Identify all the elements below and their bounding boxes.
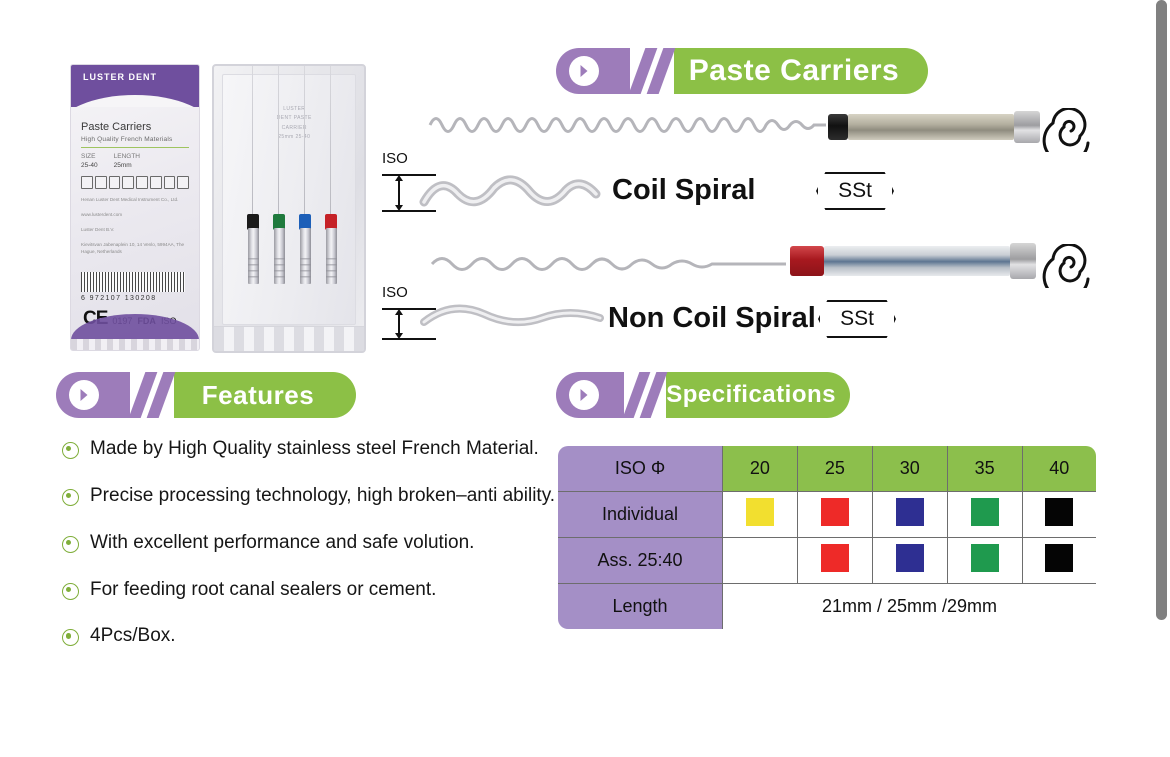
badge-sst-non-coil: SSt [818,300,896,338]
header-size-35: 35 [947,445,1022,492]
banner-right-green: Specifications [666,372,850,418]
specifications-table: ISO Φ 20 25 30 35 40 Individual Ass. 25:… [556,444,1098,631]
carton-brand-name: LUSTER DENT [83,72,157,82]
cell-assortment-30 [872,538,947,584]
carton-spec-block: SIZE 25-40 LENGTH 25mm [81,153,189,169]
carton-product-name: Paste Carriers [81,121,189,133]
bullet-icon [62,536,79,553]
carton-company: Henan Luster Dent Medical Instrument Co.… [81,197,189,204]
consult-ifu-icon [81,176,93,189]
bullet-icon [62,583,79,600]
file-handle [326,228,337,284]
cell-individual-35 [947,492,1022,538]
color-swatch [821,544,849,572]
product-blister-pack-photo: LUSTER DENT PASTE CARRIER 25mm 25-40 [212,64,366,353]
blister-tray-edge [214,326,364,351]
feature-text: For feeding root canal sealers or cement… [90,579,436,601]
blister-tray: LUSTER DENT PASTE CARRIER 25mm 25-40 [222,74,356,325]
cell-individual-25 [797,492,872,538]
non-coil-spiral-wire [430,248,790,280]
banner-title-paste-carriers: Paste Carriers [689,54,899,88]
non-coil-spiral-handpiece [790,246,1036,276]
cell-individual-20 [723,492,798,538]
temperature-limit-icon [164,176,176,189]
features-list: Made by High Quality stainless steel Fre… [62,438,562,672]
coil-spiral-wire [428,108,828,142]
cell-assortment-35 [947,538,1022,584]
list-item: For feeding root canal sealers or cement… [62,579,562,601]
carton-eu-address: Kievitsvan Jabenaplein 10, 14 Venlo, 599… [81,242,189,256]
feature-text: Precise processing technology, high brok… [90,485,555,507]
list-item: Made by High Quality stainless steel Fre… [62,438,562,460]
bullet-icon [62,629,79,646]
row-label-individual: Individual [557,492,723,538]
iso-arrow [398,314,400,334]
carton-barcode [81,272,185,292]
header-size-20: 20 [723,445,798,492]
color-swatch [971,498,999,526]
list-item: Precise processing technology, high brok… [62,485,562,507]
carton-tagline: High Quality French Materials [81,136,189,143]
manufacturer-icon [95,176,107,189]
file-shank [278,64,279,214]
row-label-assortment: Ass. 25:40 [557,538,723,584]
carton-size-label: SIZE [81,153,98,160]
iso-arrow [398,180,400,206]
carton-length-label: LENGTH [114,153,140,160]
list-item: 4Pcs/Box. [62,625,562,647]
table-row: Individual [557,492,1097,538]
banner-paste-carriers: Paste Carriers [556,48,928,94]
cell-assortment-20 [723,538,798,584]
header-iso-phi: ISO Φ [557,445,723,492]
blister-printed-text: LUSTER DENT PASTE CARRIER 25mm 25-40 [275,105,313,143]
chevron-right-icon [569,56,599,86]
banner-title-features: Features [202,380,314,411]
banner-specifications: Specifications [556,372,850,418]
caution-icon [122,176,134,189]
keep-dry-icon [136,176,148,189]
banner-right-green: Paste Carriers [674,48,928,94]
non-coil-spiral-detail [418,298,608,334]
coil-spiral-detail [418,168,608,216]
iso-label: ISO [382,150,408,167]
cell-length-value: 21mm / 25mm /29mm [723,584,1098,631]
scrollbar-track[interactable] [1152,0,1170,757]
spiral-glyph-icon [1040,108,1090,152]
file-shank [252,64,253,214]
cell-assortment-25 [797,538,872,584]
handpiece-body [824,246,1010,276]
file-shank [304,64,305,214]
label-non-coil-spiral: Non Coil Spiral [608,302,816,335]
color-swatch [746,498,774,526]
banner-right-green: Features [174,372,356,418]
handpiece-chuck [1014,111,1040,143]
color-swatch [1045,544,1073,572]
color-swatch [1045,498,1073,526]
header-size-30: 30 [872,445,947,492]
color-swatch [896,544,924,572]
banner-left-purple [556,48,630,94]
header-size-25: 25 [797,445,872,492]
handpiece-chuck [1010,243,1036,279]
cell-individual-30 [872,492,947,538]
coil-spiral-handpiece [828,114,1040,140]
banner-title-specifications: Specifications [666,381,836,409]
label-coil-spiral: Coil Spiral [612,174,755,207]
cell-individual-40 [1022,492,1097,538]
header-size-40: 40 [1022,445,1097,492]
product-sheet-page: Paste Carriers Features [0,0,1170,757]
bullet-icon [62,489,79,506]
spiral-glyph-icon [1040,244,1090,288]
carton-label-body: Paste Carriers High Quality French Mater… [71,107,199,255]
file-handle [274,228,285,284]
handpiece-body [848,114,1014,140]
file-shank [330,64,331,214]
table-row-header: ISO Φ 20 25 30 35 40 [557,445,1097,492]
iso-line-bottom [382,338,436,340]
bullet-icon [62,442,79,459]
carton-eu-rep: Luster Dent B.V. [81,227,189,234]
table-row: Length 21mm / 25mm /29mm [557,584,1097,631]
handpiece-collar [790,246,824,276]
carton-barcode-number: 6 972107 130208 [81,295,157,302]
file-handle [248,228,259,284]
color-swatch [896,498,924,526]
feature-text: 4Pcs/Box. [90,625,176,647]
chevron-right-icon [69,380,99,410]
carton-size-value: 25-40 [81,162,98,169]
carton-tray-edge [71,339,199,350]
carton-symbol-icons [81,176,189,189]
expiry-icon [177,176,189,189]
scrollbar-thumb[interactable] [1156,0,1167,620]
banner-left-purple [556,372,624,418]
product-carton-photo: LUSTER DENT Paste Carriers High Quality … [70,64,200,351]
color-swatch [971,544,999,572]
feature-text: With excellent performance and safe volu… [90,532,474,554]
handpiece-collar [828,114,848,140]
carton-divider [81,147,189,148]
badge-sst-coil: SSt [816,172,894,210]
feature-text: Made by High Quality stainless steel Fre… [90,438,539,460]
banner-features: Features [56,372,356,418]
non-sterile-icon [150,176,162,189]
iso-label: ISO [382,284,408,301]
carton-website: www.lusterdent.com [81,212,189,219]
table-row: Ass. 25:40 [557,538,1097,584]
cell-assortment-40 [1022,538,1097,584]
carton-brand-band: LUSTER DENT [71,65,199,107]
color-swatch [821,498,849,526]
list-item: With excellent performance and safe volu… [62,532,562,554]
file-handle [300,228,311,284]
row-label-length: Length [557,584,723,631]
banner-left-purple [56,372,130,418]
chevron-right-icon [569,380,599,410]
batch-code-icon [109,176,121,189]
carton-length-value: 25mm [114,162,140,169]
